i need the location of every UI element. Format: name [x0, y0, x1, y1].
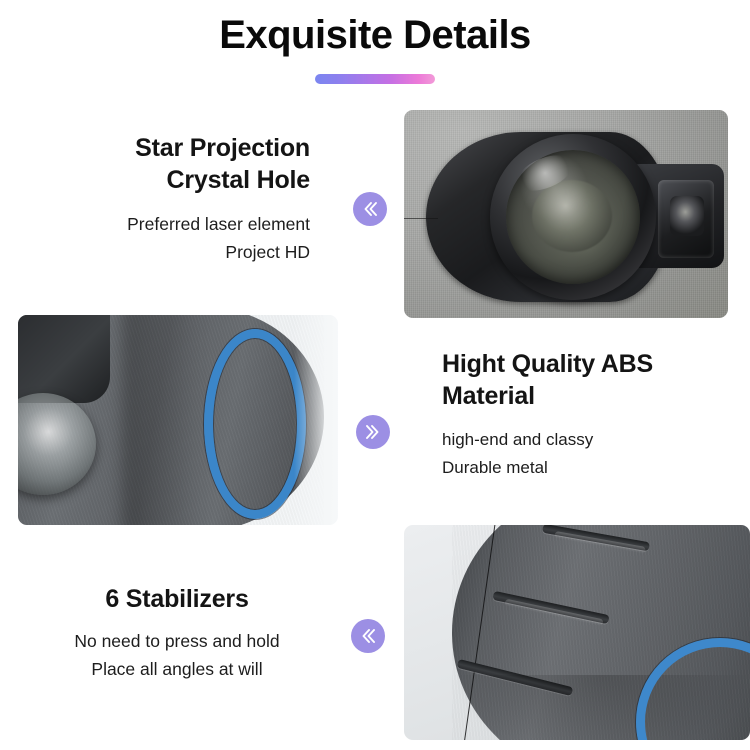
product-photo-blue-ring — [18, 315, 338, 525]
feature-body: No need to press and hold Place all angl… — [22, 627, 332, 684]
feature-heading-line1-highlighted: 6 Stabilizers — [105, 583, 248, 615]
infographic-canvas: Exquisite Details — [0, 0, 750, 750]
chevron-double-right-icon — [356, 415, 390, 449]
feature-heading-line1: Hight Quality ABS — [442, 350, 653, 378]
page-title: Exquisite Details — [0, 12, 750, 58]
feature-heading: Hight Quality ABS Material — [442, 348, 742, 412]
feature-heading-line1: Star Projection — [135, 134, 310, 162]
product-photo-stabilizer-vents — [404, 525, 750, 740]
feature-body-line1: high-end and classy — [442, 430, 593, 449]
feature-body: high-end and classy Durable metal — [442, 426, 742, 481]
chevron-double-left-icon — [353, 192, 387, 226]
dark-top-corner — [18, 315, 110, 403]
product-photo-lens — [404, 110, 728, 318]
blue-accent-ring — [204, 329, 306, 519]
feature-body: Preferred laser element Project HD — [40, 210, 310, 267]
feature-body-line2: Project HD — [225, 242, 310, 262]
lens-inner-core — [532, 180, 612, 252]
feature-block-star-projection: Star Projection Crystal Hole Preferred l… — [40, 132, 310, 267]
chevron-double-left-icon — [351, 619, 385, 653]
body-seam-line — [404, 218, 438, 219]
feature-body-line2: Place all angles at will — [91, 659, 262, 679]
background-fade — [294, 315, 338, 525]
title-gradient-underline — [315, 74, 435, 84]
feature-body-line2: Durable metal — [442, 458, 548, 477]
feature-heading-line2-highlighted: Material — [442, 380, 535, 412]
sensor-element — [670, 196, 704, 236]
feature-heading: Star Projection Crystal Hole — [40, 132, 310, 196]
feature-body-line1: Preferred laser element — [127, 214, 310, 234]
feature-body-line1: No need to press and hold — [74, 631, 279, 651]
feature-heading: 6 Stabilizers — [22, 583, 332, 615]
feature-block-abs-material: Hight Quality ABS Material high-end and … — [442, 348, 742, 481]
feature-block-stabilizers: 6 Stabilizers No need to press and hold … — [22, 583, 332, 684]
feature-heading-line2-highlighted: Crystal Hole — [167, 164, 311, 196]
housing-shadow — [122, 315, 200, 525]
